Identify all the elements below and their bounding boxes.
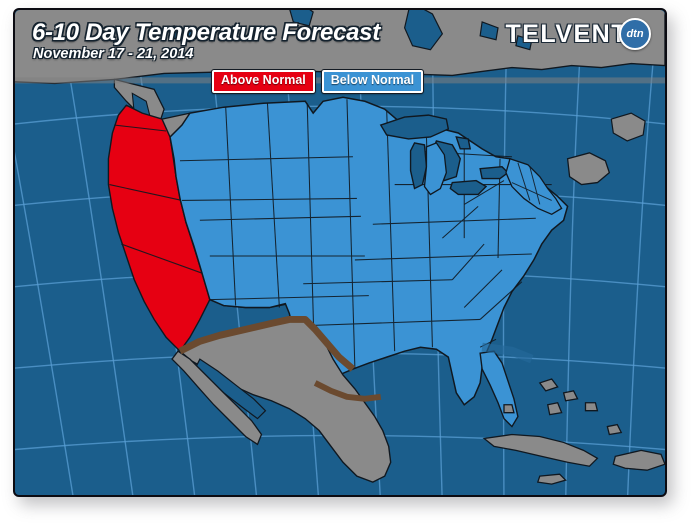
temperature-legend: Above Normal Below Normal [212,70,423,93]
legend-below-normal[interactable]: Below Normal [322,70,423,93]
legend-above-normal[interactable]: Above Normal [212,70,315,93]
map-frame: 6-10 Day Temperature Forecast November 1… [13,8,667,497]
weather-map-page: 6-10 Day Temperature Forecast November 1… [0,0,692,532]
